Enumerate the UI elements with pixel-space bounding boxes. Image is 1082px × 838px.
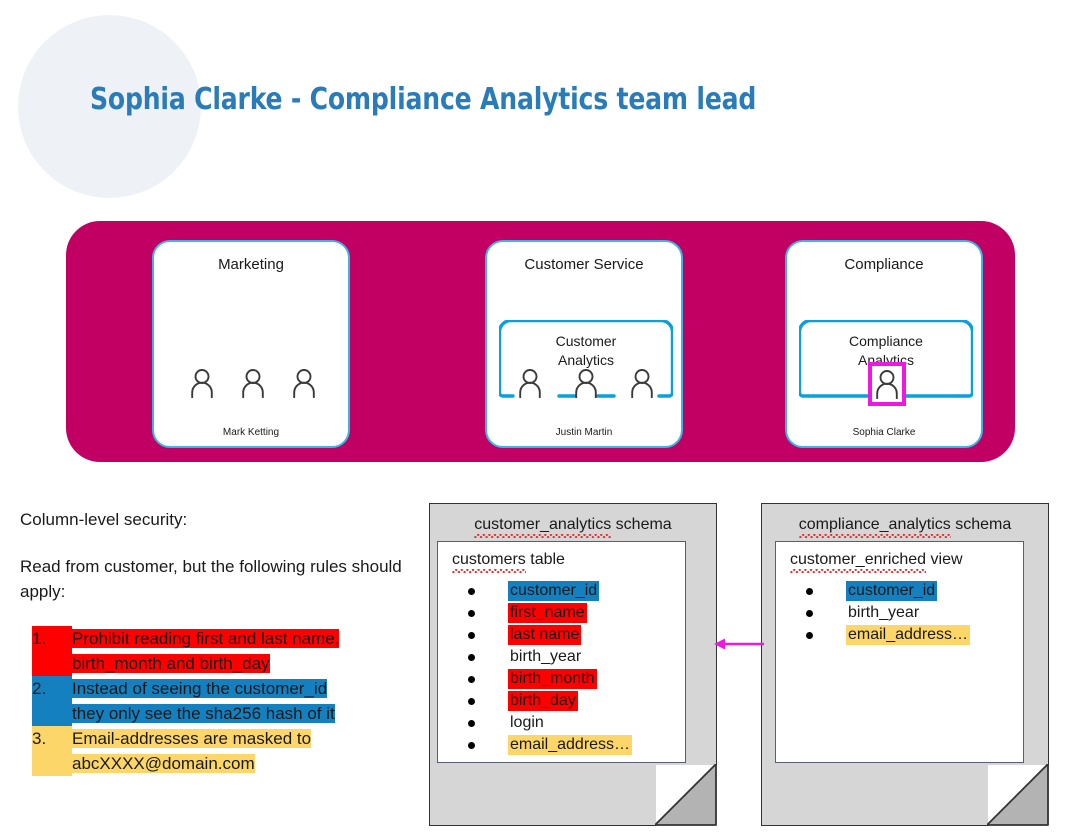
sub-team-label-line1: Customer — [556, 333, 617, 349]
schema-object-name: customer_enriched — [790, 551, 926, 570]
column-name: birth_month — [508, 669, 597, 689]
rule-number: 1. — [32, 626, 72, 676]
person-icon — [572, 368, 600, 398]
rule-text: Instead of seeing the customer_id they o… — [72, 676, 410, 726]
rule-item: 3. Email-addresses are masked to abcXXXX… — [32, 726, 410, 776]
column-row[interactable]: birth_year — [468, 646, 632, 668]
schema-object-name: customers — [452, 551, 526, 570]
rule-line1: Instead of seeing the customer_id — [72, 679, 327, 698]
bullet-icon — [468, 610, 475, 617]
rule-line1: Prohibit reading first and last name, — [72, 629, 339, 648]
schema-inner-panel: customer_enriched view customer_id birth… — [775, 541, 1024, 763]
rule-text: Email-addresses are masked to abcXXXX@do… — [72, 726, 410, 776]
bullet-icon — [468, 588, 475, 595]
column-row[interactable]: customer_id — [468, 580, 632, 602]
schema-object-suffix: view — [926, 551, 962, 568]
person-icon — [290, 368, 318, 398]
schema-object-title: customers table — [452, 551, 565, 569]
schema-connector-arrow — [710, 634, 766, 654]
bullet-icon — [468, 698, 475, 705]
rule-item: 1. Prohibit reading first and last name,… — [32, 626, 410, 676]
column-row[interactable]: login — [468, 712, 632, 734]
column-list: customer_id birth_year email_address… — [806, 580, 970, 646]
column-row[interactable]: email_address… — [806, 624, 970, 646]
bullet-icon — [468, 632, 475, 639]
column-name: email_address… — [508, 735, 632, 755]
schema-object-suffix: table — [526, 551, 565, 568]
person-icon — [239, 368, 267, 398]
column-name: birth_day — [508, 691, 578, 711]
rule-line2: abcXXXX@domain.com — [72, 754, 255, 773]
column-name: last name — [508, 625, 581, 645]
person-icon — [188, 368, 216, 398]
person-icon-highlighted — [873, 369, 901, 399]
rule-line2: they only see the sha256 hash of it — [72, 704, 335, 723]
column-row[interactable]: email_address… — [468, 734, 632, 756]
team-title-customer-service: Customer Service — [487, 256, 681, 273]
column-row[interactable]: customer_id — [806, 580, 970, 602]
notes-column: Column-level security: Read from custome… — [20, 507, 410, 776]
rule-line1: Email-addresses are masked to — [72, 729, 311, 748]
sub-team-label-customer-analytics: Customer Analytics — [499, 332, 673, 370]
person-icon — [516, 368, 544, 398]
team-box-marketing[interactable]: Marketing Mark Ketting — [152, 240, 350, 448]
rule-line2: birth_month and birth_day — [72, 654, 270, 673]
column-name: birth_year — [846, 603, 921, 623]
schema-doc-compliance-analytics[interactable]: compliance_analytics schema customer_enr… — [761, 503, 1049, 826]
rules-list: 1. Prohibit reading first and last name,… — [20, 626, 410, 776]
team-title-marketing: Marketing — [154, 256, 348, 273]
bullet-icon — [806, 632, 813, 639]
column-row[interactable]: first_name — [468, 602, 632, 624]
team-owner-customer-service: Justin Martin — [487, 427, 681, 438]
schema-title-suffix: schema — [951, 516, 1011, 533]
bullet-icon — [468, 676, 475, 683]
schema-inner-panel: customers table customer_id first_name l… — [437, 541, 686, 763]
team-box-customer-service[interactable]: Customer Service Customer Analytics Just… — [485, 240, 683, 448]
notes-intro: Read from customer, but the following ru… — [20, 554, 410, 604]
column-list: customer_id first_name last name birth_y… — [468, 580, 632, 756]
schema-title: customer_analytics schema — [429, 516, 717, 534]
doc-fold-corner-icon — [655, 764, 717, 826]
column-name: customer_id — [846, 581, 937, 601]
schema-object-title: customer_enriched view — [790, 551, 963, 569]
schema-doc-customer-analytics[interactable]: customer_analytics schema customers tabl… — [429, 503, 717, 826]
column-row[interactable]: last name — [468, 624, 632, 646]
column-name: first_name — [508, 603, 587, 623]
column-row[interactable]: birth_year — [806, 602, 970, 624]
bullet-icon — [806, 610, 813, 617]
schema-name: customer_analytics — [474, 516, 611, 535]
person-icon — [628, 368, 656, 398]
doc-fold-corner-icon — [987, 764, 1049, 826]
schema-title-suffix: schema — [611, 516, 671, 533]
schema-title: compliance_analytics schema — [761, 516, 1049, 534]
column-name: customer_id — [508, 581, 599, 601]
notes-heading: Column-level security: — [20, 507, 410, 532]
sub-team-label-line1: Compliance — [849, 333, 923, 349]
bullet-icon — [468, 720, 475, 727]
column-name: birth_year — [508, 647, 583, 667]
team-title-compliance: Compliance — [787, 256, 981, 273]
page-title: Sophia Clarke - Compliance Analytics tea… — [90, 82, 756, 117]
team-box-compliance[interactable]: Compliance Compliance Analytics Sophia C… — [785, 240, 983, 448]
slide-canvas: Sophia Clarke - Compliance Analytics tea… — [0, 0, 1082, 838]
rule-text: Prohibit reading first and last name, bi… — [72, 626, 410, 676]
team-owner-marketing: Mark Ketting — [154, 427, 348, 438]
column-name: email_address… — [846, 625, 970, 645]
column-row[interactable]: birth_month — [468, 668, 632, 690]
bullet-icon — [806, 588, 813, 595]
bullet-icon — [468, 654, 475, 661]
team-owner-compliance: Sophia Clarke — [787, 427, 981, 438]
rule-item: 2. Instead of seeing the customer_id the… — [32, 676, 410, 726]
column-name: login — [508, 713, 546, 733]
column-row[interactable]: birth_day — [468, 690, 632, 712]
sub-team-label-line2: Analytics — [558, 352, 614, 368]
schema-name: compliance_analytics — [799, 516, 951, 535]
rule-number: 3. — [32, 726, 72, 776]
rule-number: 2. — [32, 676, 72, 726]
bullet-icon — [468, 742, 475, 749]
